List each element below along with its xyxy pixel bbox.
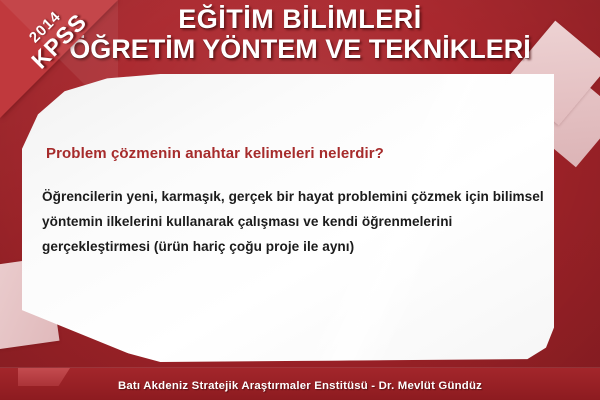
footer-divider xyxy=(0,367,600,368)
corner-badge: 2014 KPSS xyxy=(0,0,118,118)
slide-canvas: EĞİTİM BİLİMLERİ ÖĞRETİM YÖNTEM VE TEKNİ… xyxy=(0,0,600,400)
answer-text: Öğrencilerin yeni, karmaşık, gerçek bir … xyxy=(42,184,546,259)
footer-credit: Batı Akdeniz Stratejik Araştırmaler Enst… xyxy=(0,380,600,392)
question-text: Problem çözmenin anahtar kelimeleri nele… xyxy=(46,144,526,164)
